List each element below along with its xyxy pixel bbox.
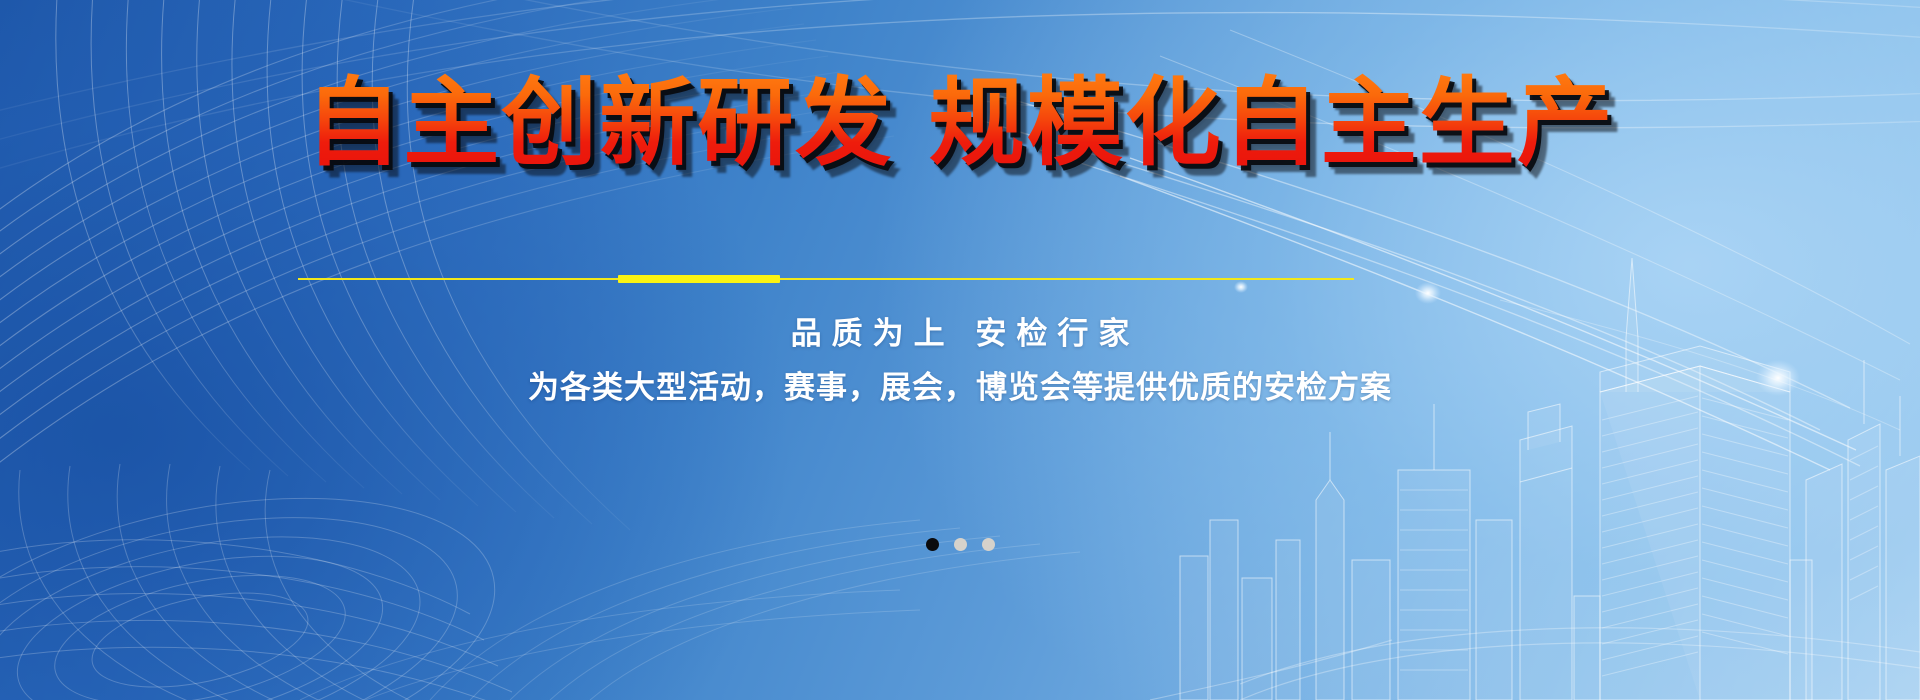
hero-banner: 自主创新研发 规模化自主生产 品质为上 安检行家 为各类大型活动，赛事，展会，博… [0,0,1920,700]
banner-subtitle: 品质为上 安检行家 [0,308,1920,353]
divider-accent-block [618,275,780,283]
carousel-dot-3[interactable] [982,538,995,551]
banner-description: 为各类大型活动，赛事，展会，博览会等提供优质的安检方案 [0,362,1920,407]
yellow-divider [298,275,1354,283]
carousel-dot-1[interactable] [926,538,939,551]
carousel-dot-2[interactable] [954,538,967,551]
page-title: 自主创新研发 规模化自主生产 [305,72,1614,176]
carousel-dots[interactable] [0,538,1920,551]
divider-thin-line [298,278,1354,280]
headline-container: 自主创新研发 规模化自主生产 [0,72,1920,176]
